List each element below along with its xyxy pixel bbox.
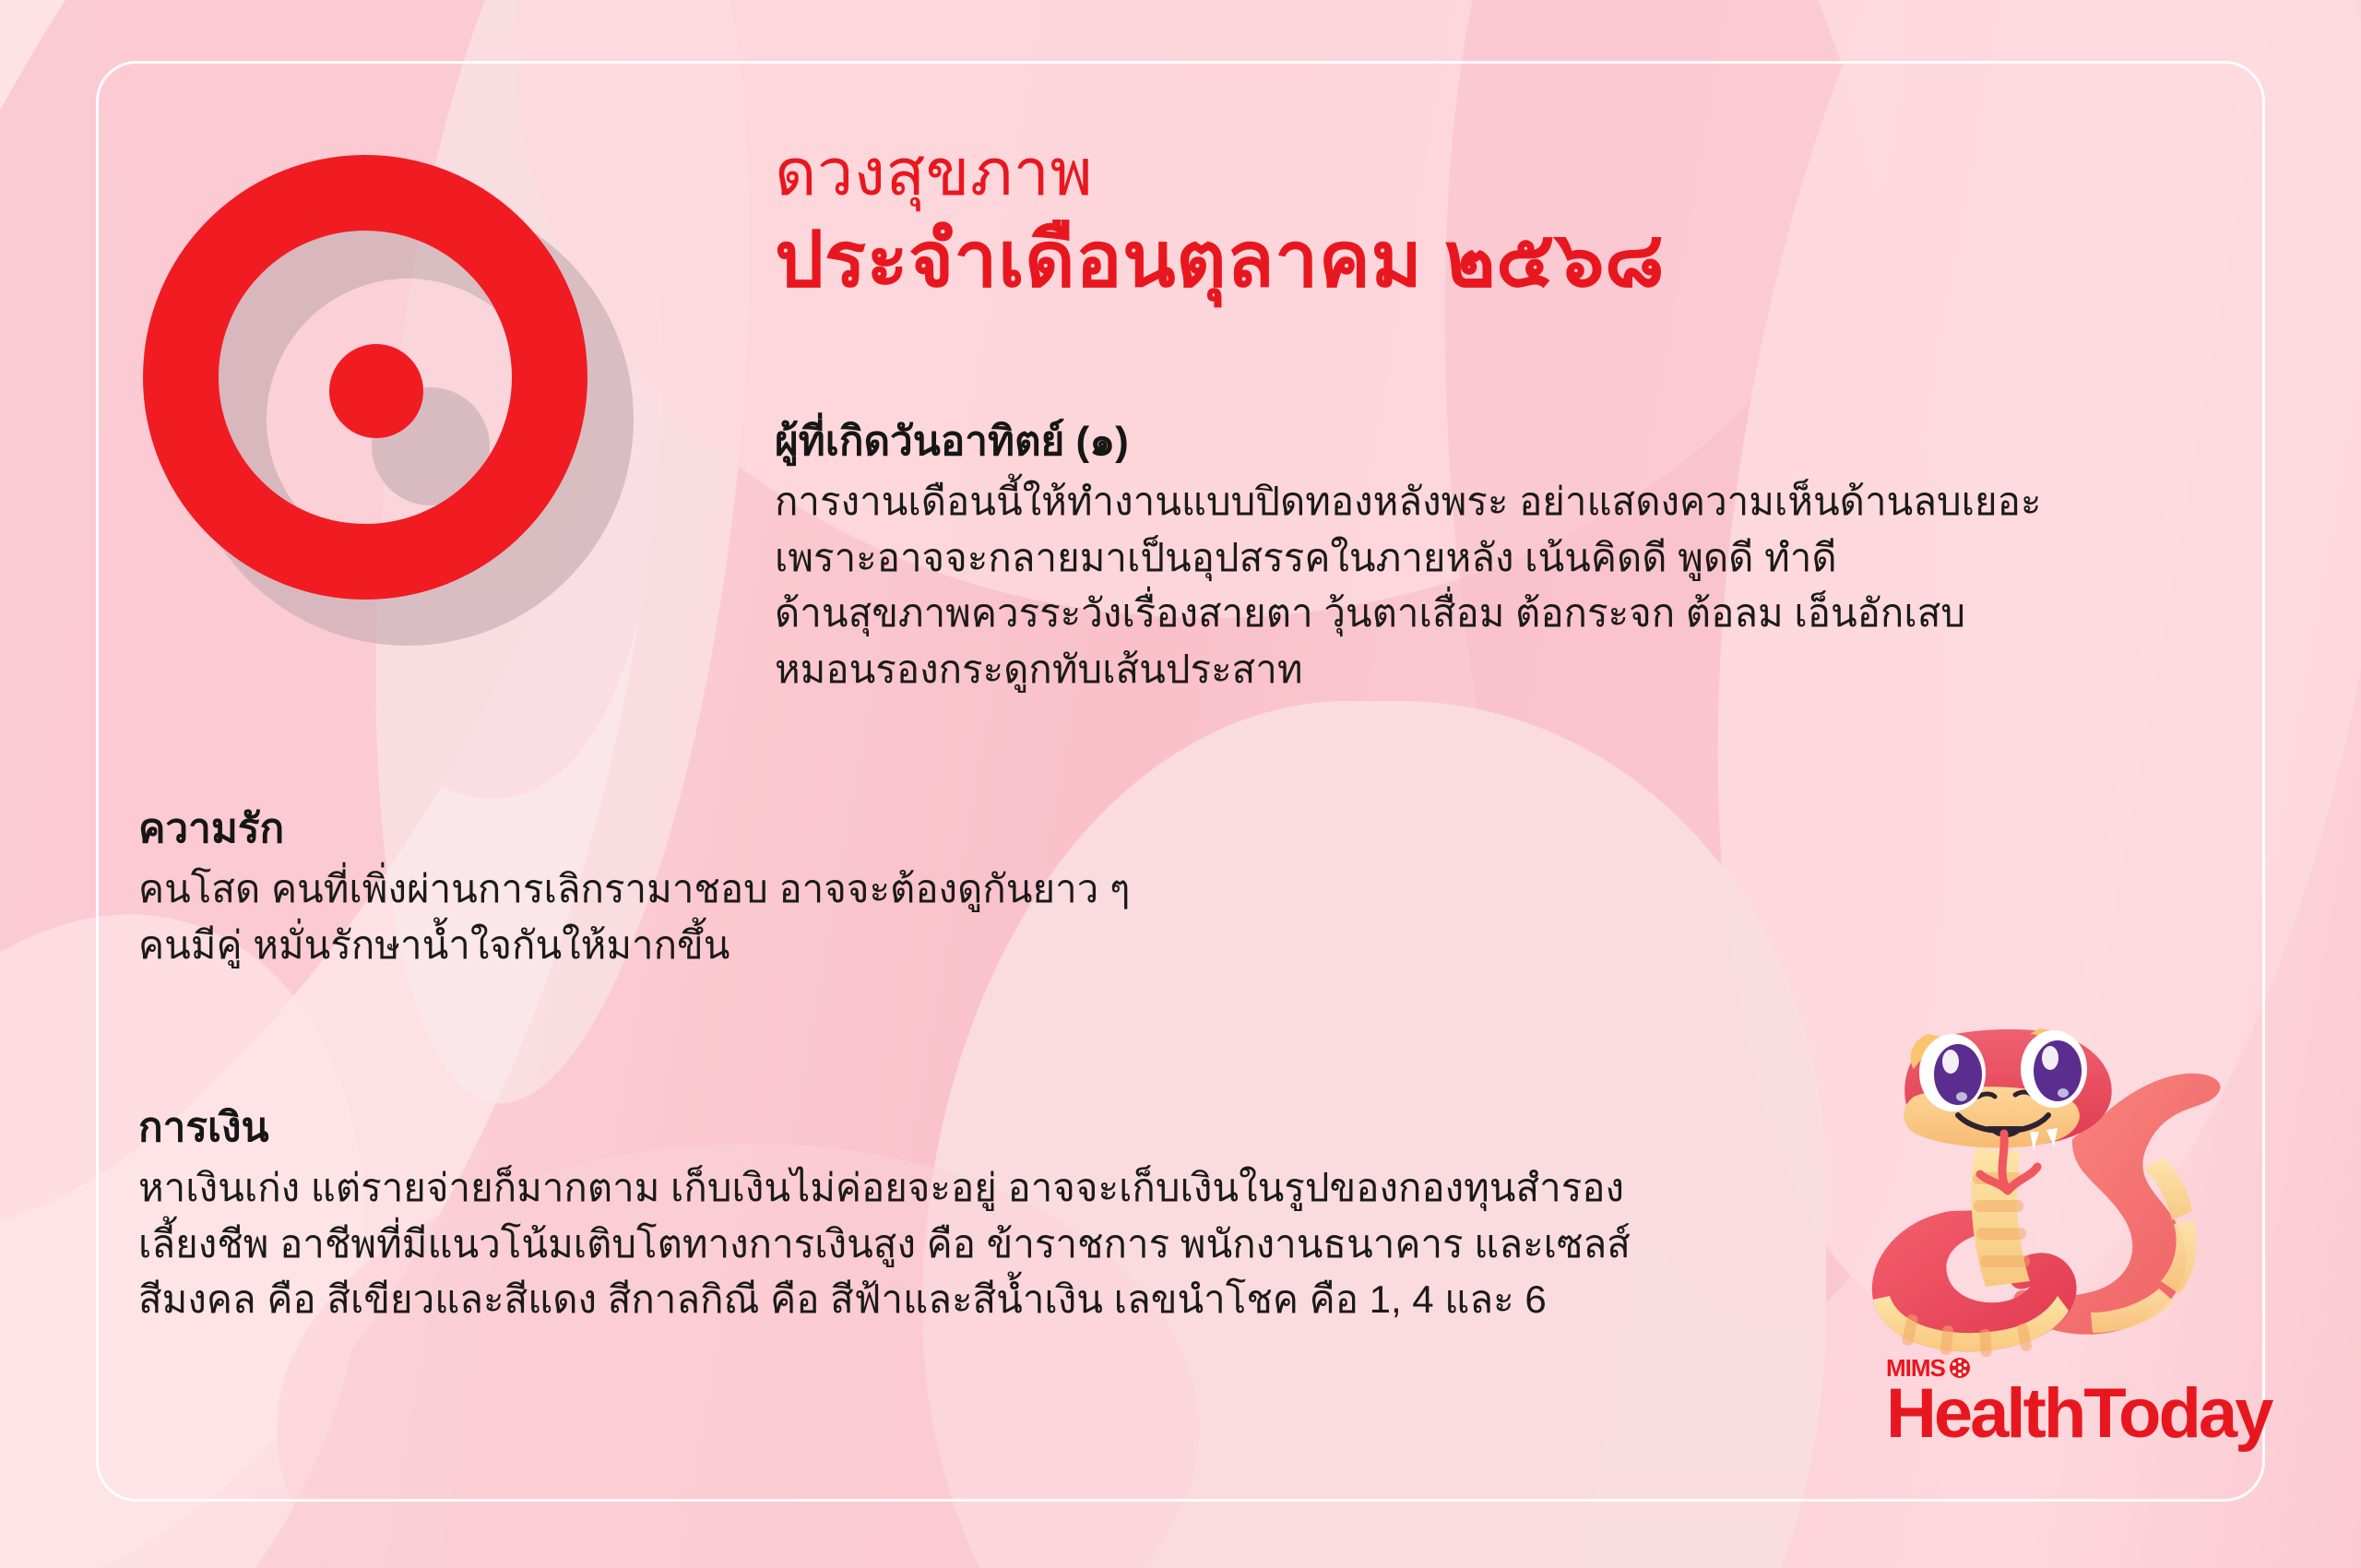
section-money-line: สีมงคล คือ สีเขียวและสีแดง สีกาลกิณี คือ…	[138, 1272, 2057, 1328]
section-money-line: เลี้ยงชีพ อาชีพที่มีแนวโน้มเติบโตทางการเ…	[138, 1217, 2057, 1273]
section-sunday-heading: ผู้ที่เกิดวันอาทิตย์ (๑)	[775, 417, 2084, 467]
section-sunday-line: ด้านสุขภาพควรระวังเรื่องสายตา วุ้นตาเสื่…	[775, 586, 2084, 642]
section-sunday-body: การงานเดือนนี้ให้ทำงานแบบปิดทองหลังพระ อ…	[775, 474, 2084, 699]
section-love-body: คนโสด คนที่เพิ่งผ่านการเลิกรามาชอบ อาจจะ…	[138, 861, 2057, 974]
title-main: ประจำเดือนตุลาคม ๒๕๖๘	[775, 216, 1665, 303]
snake-eye-right	[2021, 1030, 2087, 1108]
target-icon	[143, 155, 632, 644]
target-icon-center	[329, 344, 423, 438]
title-subtitle: ดวงสุขภาพ	[775, 138, 1665, 208]
page-title: ดวงสุขภาพ ประจำเดือนตุลาคม ๒๕๖๘	[775, 138, 1665, 303]
section-money-heading: การเงิน	[138, 1103, 2057, 1153]
healthtoday-logo: MIMS HealthToday	[1886, 1356, 2236, 1448]
section-sunday-line: หมอนรองกระดูกทับเส้นประสาท	[775, 642, 2084, 698]
section-love: ความรัก คนโสด คนที่เพิ่งผ่านการเลิกรามาช…	[138, 804, 2057, 973]
section-money-line: หาเงินเก่ง แต่รายจ่ายก็มากตาม เก็บเงินไม…	[138, 1160, 2057, 1217]
section-love-line: คนมีคู่ หมั่นรักษาน้ำใจกันให้มากขึ้น	[138, 918, 2057, 974]
logo-wordmark: HealthToday	[1886, 1381, 2236, 1448]
section-money-body: หาเงินเก่ง แต่รายจ่ายก็มากตาม เก็บเงินไม…	[138, 1160, 2057, 1329]
section-sunday: ผู้ที่เกิดวันอาทิตย์ (๑) การงานเดือนนี้ใ…	[775, 417, 2084, 698]
section-love-heading: ความรัก	[138, 804, 2057, 854]
section-love-line: คนโสด คนที่เพิ่งผ่านการเลิกรามาชอบ อาจจะ…	[138, 861, 2057, 918]
section-sunday-line: การงานเดือนนี้ให้ทำงานแบบปิดทองหลังพระ อ…	[775, 474, 2084, 530]
snake-eye-left	[1919, 1034, 1986, 1111]
horoscope-card: ดวงสุขภาพ ประจำเดือนตุลาคม ๒๕๖๘ ผู้ที่เก…	[0, 0, 2361, 1568]
snake-mascot-icon	[1840, 1001, 2255, 1360]
section-money: การเงิน หาเงินเก่ง แต่รายจ่ายก็มากตาม เก…	[138, 1103, 2057, 1328]
section-sunday-line: เพราะอาจจะกลายมาเป็นอุปสรรคในภายหลัง เน้…	[775, 530, 2084, 587]
